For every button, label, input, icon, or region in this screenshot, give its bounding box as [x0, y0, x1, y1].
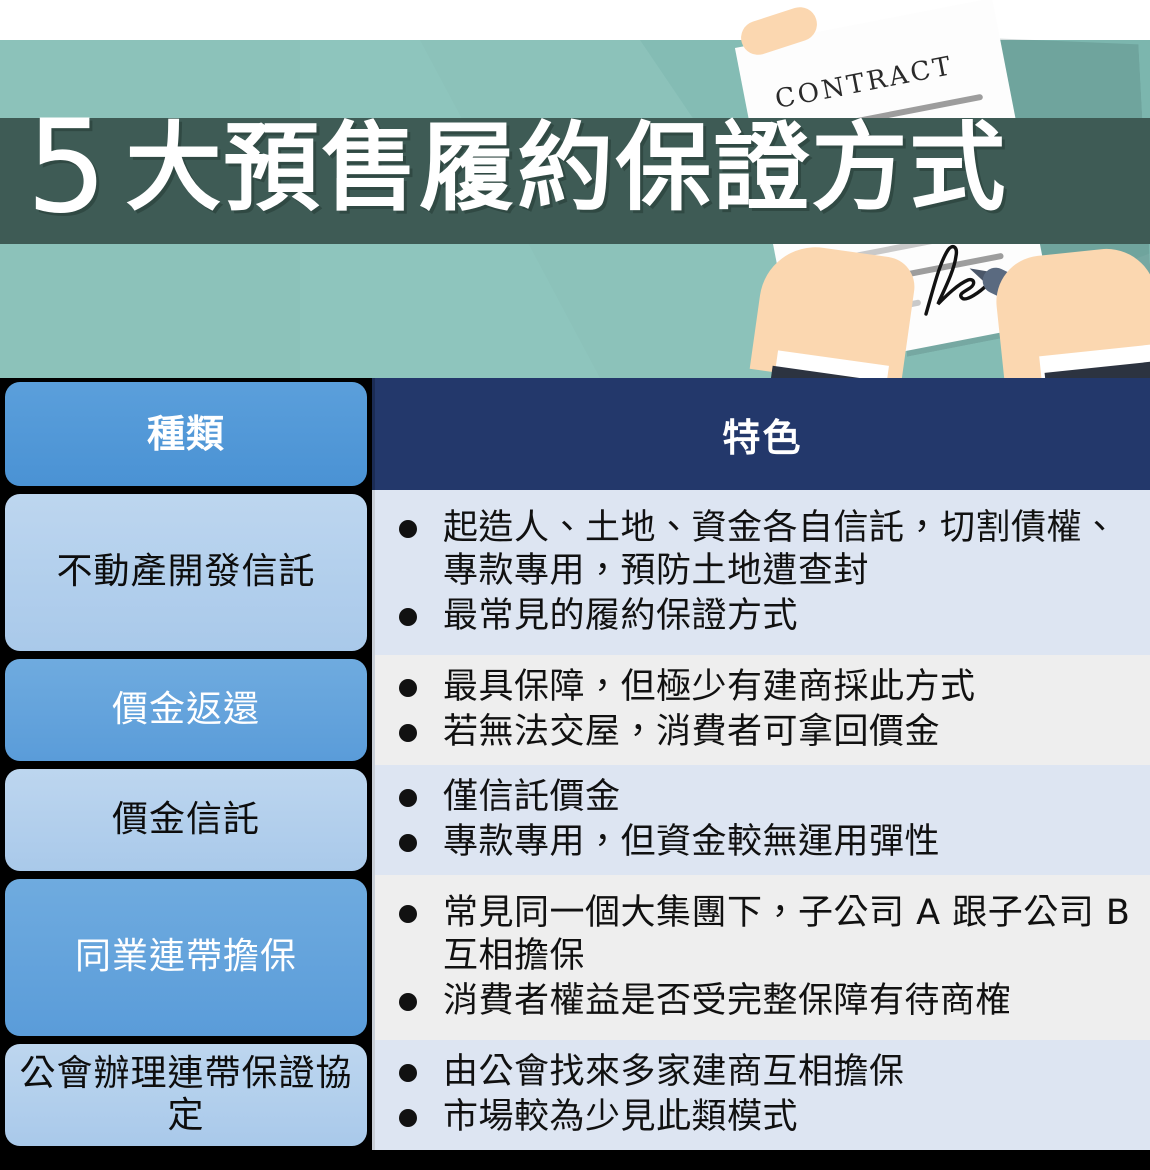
bullet-dot-icon	[399, 1109, 417, 1127]
list-item: 若無法交屋，消費者可拿回價金	[387, 710, 1142, 755]
list-item: 專款專用，但資金較無運用彈性	[387, 820, 1142, 865]
row-type-label: 同業連帶擔保	[5, 879, 367, 1036]
bullet-dot-icon	[399, 520, 417, 538]
table-row: 價金信託 僅信託價金 專款專用，但資金較無運用彈性	[0, 765, 1150, 875]
table-header-row: 種類 特色	[0, 378, 1150, 490]
row-type-cell: 價金返還	[0, 655, 372, 765]
bullet-dot-icon	[399, 1064, 417, 1082]
bullet-list: 常見同一個大集團下，子公司 A 跟子公司 B 互相擔保 消費者權益是否受完整保障…	[387, 891, 1142, 1023]
bottom-filler	[0, 1150, 1150, 1170]
bullet-text: 專款專用，但資金較無運用彈性	[443, 821, 1142, 864]
table-row: 價金返還 最具保障，但極少有建商採此方式 若無法交屋，消費者可拿回價金	[0, 655, 1150, 765]
title-band	[0, 118, 1150, 244]
header-features-label: 特色	[722, 407, 802, 462]
list-item: 僅信託價金	[387, 775, 1142, 820]
header-features-cell: 特色	[372, 378, 1150, 490]
bullet-text: 由公會找來多家建商互相擔保	[443, 1051, 1142, 1094]
bullet-dot-icon	[399, 834, 417, 852]
list-item: 起造人、土地、資金各自信託，切割債權、專款專用，預防土地遭查封	[387, 506, 1142, 593]
bullet-dot-icon	[399, 679, 417, 697]
signature-icon	[918, 242, 992, 322]
row-features-cell: 最具保障，但極少有建商採此方式 若無法交屋，消費者可拿回價金	[372, 655, 1150, 765]
list-item: 最常見的履約保證方式	[387, 594, 1142, 639]
header-type-label: 種類	[5, 382, 367, 486]
table-row: 不動產開發信託 起造人、土地、資金各自信託，切割債權、專款專用，預防土地遭查封 …	[0, 490, 1150, 655]
bullet-text: 常見同一個大集團下，子公司 A 跟子公司 B 互相擔保	[443, 892, 1142, 977]
bullet-list: 最具保障，但極少有建商採此方式 若無法交屋，消費者可拿回價金	[387, 665, 1142, 754]
row-type-cell: 價金信託	[0, 765, 372, 875]
table-row: 公會辦理連帶保證協定 由公會找來多家建商互相擔保 市場較為少見此類模式	[0, 1040, 1150, 1150]
bullet-text: 市場較為少見此類模式	[443, 1096, 1142, 1139]
list-item: 由公會找來多家建商互相擔保	[387, 1050, 1142, 1095]
banner: CONTRACT	[0, 0, 1150, 378]
bullet-text: 起造人、土地、資金各自信託，切割債權、專款專用，預防土地遭查封	[443, 507, 1142, 592]
row-type-cell: 公會辦理連帶保證協定	[0, 1040, 372, 1150]
row-type-label: 價金信託	[5, 769, 367, 871]
row-features-cell: 由公會找來多家建商互相擔保 市場較為少見此類模式	[372, 1040, 1150, 1150]
list-item: 消費者權益是否受完整保障有待商榷	[387, 979, 1142, 1024]
bullet-dot-icon	[399, 905, 417, 923]
list-item: 常見同一個大集團下，子公司 A 跟子公司 B 互相擔保	[387, 891, 1142, 978]
list-item: 市場較為少見此類模式	[387, 1095, 1142, 1140]
bullet-text: 最常見的履約保證方式	[443, 595, 1142, 638]
bullet-list: 起造人、土地、資金各自信託，切割債權、專款專用，預防土地遭查封 最常見的履約保證…	[387, 506, 1142, 638]
row-features-cell: 常見同一個大集團下，子公司 A 跟子公司 B 互相擔保 消費者權益是否受完整保障…	[372, 875, 1150, 1040]
table-row: 同業連帶擔保 常見同一個大集團下，子公司 A 跟子公司 B 互相擔保 消費者權益…	[0, 875, 1150, 1040]
header-type-cell: 種類	[0, 378, 372, 490]
list-item: 最具保障，但極少有建商採此方式	[387, 665, 1142, 710]
bullet-list: 僅信託價金 專款專用，但資金較無運用彈性	[387, 775, 1142, 864]
bullet-dot-icon	[399, 608, 417, 626]
row-type-label: 不動產開發信託	[5, 494, 367, 651]
row-type-label: 公會辦理連帶保證協定	[5, 1044, 367, 1146]
row-features-cell: 僅信託價金 專款專用，但資金較無運用彈性	[372, 765, 1150, 875]
bullet-dot-icon	[399, 993, 417, 1011]
row-type-cell: 同業連帶擔保	[0, 875, 372, 1040]
bullet-dot-icon	[399, 724, 417, 742]
bullet-text: 最具保障，但極少有建商採此方式	[443, 666, 1142, 709]
row-type-label: 價金返還	[5, 659, 367, 761]
bullet-text: 消費者權益是否受完整保障有待商榷	[443, 980, 1142, 1023]
bullet-text: 僅信託價金	[443, 776, 1142, 819]
bullet-text: 若無法交屋，消費者可拿回價金	[443, 711, 1142, 754]
row-features-cell: 起造人、土地、資金各自信託，切割債權、專款專用，預防土地遭查封 最常見的履約保證…	[372, 490, 1150, 655]
infographic-page: CONTRACT	[0, 0, 1150, 1170]
row-type-cell: 不動產開發信託	[0, 490, 372, 655]
bullet-list: 由公會找來多家建商互相擔保 市場較為少見此類模式	[387, 1050, 1142, 1139]
bullet-dot-icon	[399, 789, 417, 807]
comparison-table: 種類 特色 不動產開發信託 起造人、土地、資金各自信託，切割債權、專款專用，預防…	[0, 378, 1150, 1150]
